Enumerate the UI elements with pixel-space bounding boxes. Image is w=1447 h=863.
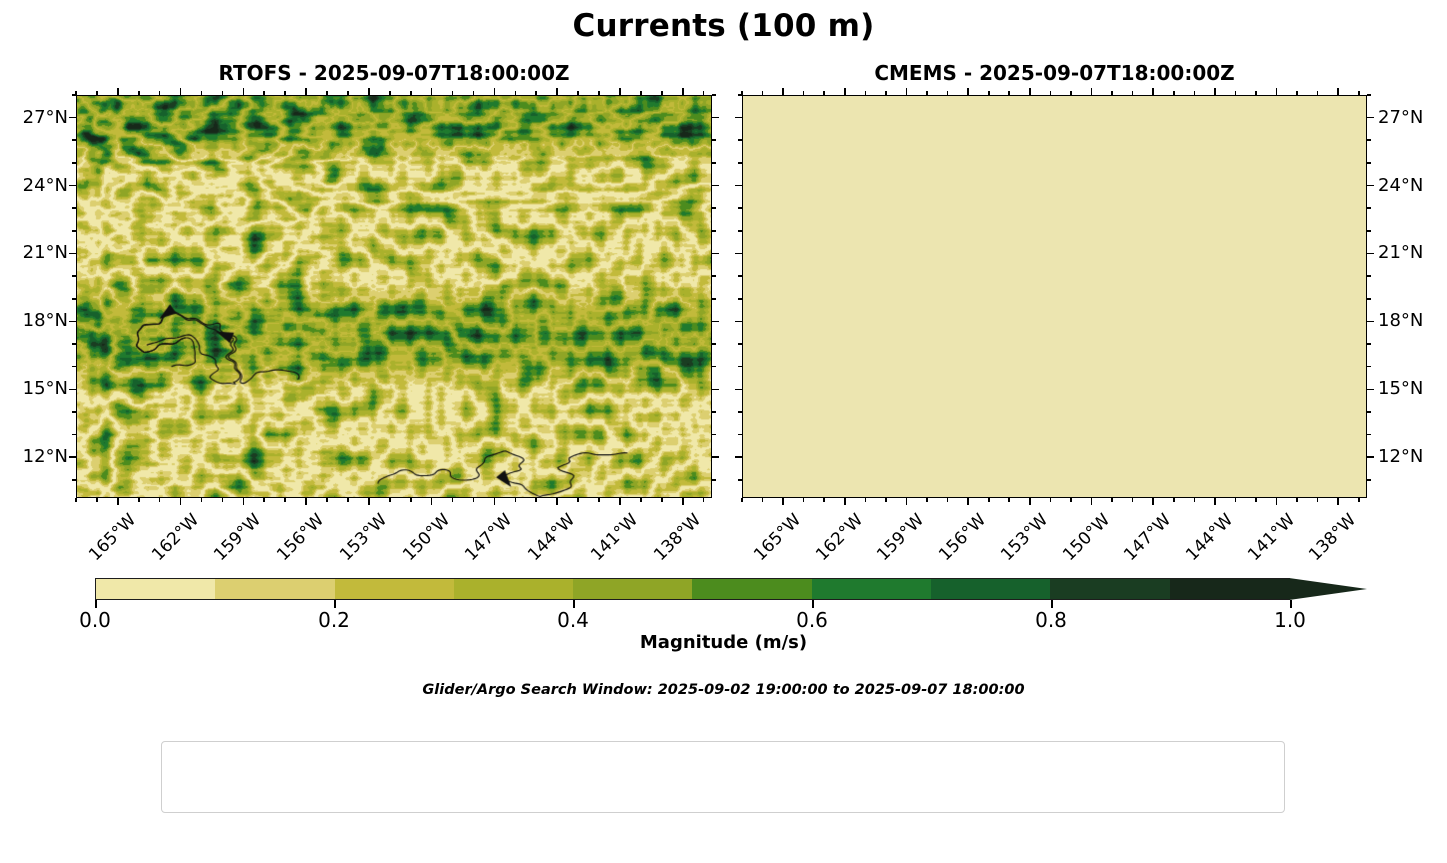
y-tick-major	[712, 117, 719, 119]
y-tick-minor	[738, 230, 742, 232]
x-tick-major	[305, 498, 307, 505]
colorbar-band-8	[1050, 579, 1169, 599]
x-tick-minor	[1132, 498, 1134, 502]
x-tick-minor	[535, 91, 537, 95]
colorbar-tick	[334, 600, 336, 608]
colorbar-tick	[1051, 600, 1053, 608]
panel-title-rtofs: RTOFS - 2025-09-07T18:00:00Z	[76, 61, 712, 85]
panel-title-cmems: CMEMS - 2025-09-07T18:00:00Z	[742, 61, 1367, 85]
x-tick-minor	[96, 498, 98, 502]
x-tick-minor	[1111, 498, 1113, 502]
colorbar-band-5	[692, 579, 811, 599]
current-magnitude-field-rtofs	[77, 96, 711, 497]
x-tick-minor	[201, 91, 203, 95]
x-tick-minor	[410, 91, 412, 95]
x-tick-minor	[138, 91, 140, 95]
y-axis-label: 18°N	[1378, 310, 1440, 331]
colorbar-band-3	[454, 579, 573, 599]
colorbar[interactable]	[95, 578, 1313, 600]
x-tick-minor	[1173, 91, 1175, 95]
y-tick-minor	[712, 139, 716, 141]
colorbar-ticklabel: 0.4	[533, 608, 613, 632]
y-tick-major	[735, 185, 742, 187]
y-tick-minor	[738, 343, 742, 345]
y-tick-minor	[1367, 207, 1371, 209]
x-tick-minor	[326, 498, 328, 502]
figure-title: Currents (100 m)	[0, 8, 1447, 44]
y-tick-minor	[712, 298, 716, 300]
x-tick-minor	[988, 498, 990, 502]
x-tick-minor	[741, 498, 743, 502]
y-axis-label: 24°N	[8, 175, 68, 196]
x-tick-minor	[803, 91, 805, 95]
x-tick-minor	[263, 498, 265, 502]
x-tick-minor	[326, 91, 328, 95]
x-tick-major	[1337, 498, 1339, 505]
y-tick-major	[735, 456, 742, 458]
x-tick-minor	[1173, 498, 1175, 502]
x-tick-major	[906, 88, 908, 95]
y-axis-label: 24°N	[1378, 175, 1440, 196]
y-tick-minor	[712, 230, 716, 232]
x-tick-minor	[741, 91, 743, 95]
y-tick-minor	[1367, 343, 1371, 345]
y-tick-minor	[72, 298, 76, 300]
x-tick-minor	[1050, 91, 1052, 95]
y-tick-minor	[72, 366, 76, 368]
y-axis-label: 21°N	[8, 242, 68, 263]
x-tick-minor	[577, 91, 579, 95]
y-tick-minor	[738, 162, 742, 164]
x-tick-minor	[138, 498, 140, 502]
y-tick-minor	[738, 434, 742, 436]
y-axis-label: 12°N	[8, 446, 68, 467]
y-axis-label: 12°N	[1378, 446, 1440, 467]
y-tick-major	[735, 117, 742, 119]
colorbar-band-0	[96, 579, 215, 599]
y-tick-minor	[1367, 366, 1371, 368]
x-tick-minor	[1358, 498, 1360, 502]
x-tick-minor	[452, 498, 454, 502]
x-tick-minor	[473, 498, 475, 502]
x-tick-minor	[926, 91, 928, 95]
x-tick-minor	[263, 91, 265, 95]
y-tick-minor	[712, 275, 716, 277]
x-tick-minor	[762, 91, 764, 95]
y-tick-minor	[738, 207, 742, 209]
y-tick-minor	[712, 207, 716, 209]
colorbar-tick	[812, 600, 814, 608]
y-tick-minor	[1367, 411, 1371, 413]
x-tick-major	[494, 498, 496, 505]
y-tick-major	[69, 185, 76, 187]
x-tick-major	[1214, 498, 1216, 505]
y-tick-minor	[738, 298, 742, 300]
x-tick-minor	[661, 91, 663, 95]
x-tick-major	[619, 88, 621, 95]
y-tick-major	[69, 389, 76, 391]
x-tick-minor	[1296, 91, 1298, 95]
x-tick-major	[1029, 498, 1031, 505]
y-tick-minor	[738, 139, 742, 141]
colorbar-ticklabel: 0.0	[55, 608, 135, 632]
y-tick-major	[735, 321, 742, 323]
x-tick-minor	[159, 498, 161, 502]
y-tick-major	[69, 321, 76, 323]
x-tick-major	[1152, 88, 1154, 95]
x-tick-major	[1091, 498, 1093, 505]
x-tick-major	[180, 88, 182, 95]
y-tick-minor	[1367, 162, 1371, 164]
x-tick-minor	[1235, 498, 1237, 502]
y-tick-major	[1367, 253, 1374, 255]
colorbar-gradient	[95, 578, 1290, 600]
x-tick-minor	[926, 498, 928, 502]
map-panel-cmems[interactable]	[742, 95, 1367, 498]
x-tick-minor	[410, 498, 412, 502]
current-magnitude-field-cmems	[743, 96, 1366, 497]
y-tick-minor	[1367, 230, 1371, 232]
x-tick-minor	[222, 498, 224, 502]
x-tick-major	[967, 88, 969, 95]
x-tick-minor	[1070, 498, 1072, 502]
x-tick-minor	[535, 498, 537, 502]
y-axis-label: 15°N	[8, 378, 68, 399]
y-tick-minor	[712, 94, 716, 96]
colorbar-tick	[573, 600, 575, 608]
y-tick-minor	[712, 479, 716, 481]
x-tick-minor	[389, 91, 391, 95]
x-tick-major	[782, 88, 784, 95]
y-tick-minor	[72, 434, 76, 436]
x-tick-minor	[1317, 91, 1319, 95]
y-tick-minor	[1367, 94, 1371, 96]
x-tick-minor	[1050, 498, 1052, 502]
y-tick-minor	[712, 366, 716, 368]
x-tick-minor	[1008, 91, 1010, 95]
x-tick-major	[782, 498, 784, 505]
colorbar-tick	[95, 600, 97, 608]
y-tick-minor	[738, 275, 742, 277]
y-tick-minor	[1367, 275, 1371, 277]
colorbar-band-1	[215, 579, 334, 599]
colorbar-band-6	[812, 579, 931, 599]
x-tick-major	[117, 88, 119, 95]
x-tick-minor	[1008, 498, 1010, 502]
x-tick-minor	[452, 91, 454, 95]
x-tick-minor	[885, 91, 887, 95]
x-tick-major	[844, 88, 846, 95]
x-tick-major	[682, 498, 684, 505]
x-tick-minor	[1111, 91, 1113, 95]
colorbar-band-7	[931, 579, 1050, 599]
x-tick-major	[556, 88, 558, 95]
x-tick-minor	[1296, 498, 1298, 502]
y-tick-major	[69, 456, 76, 458]
x-tick-major	[1029, 88, 1031, 95]
x-tick-minor	[284, 498, 286, 502]
x-tick-major	[368, 498, 370, 505]
x-tick-minor	[988, 91, 990, 95]
y-tick-major	[735, 253, 742, 255]
y-tick-minor	[712, 434, 716, 436]
y-axis-label: 18°N	[8, 310, 68, 331]
x-tick-minor	[865, 498, 867, 502]
x-tick-minor	[1317, 498, 1319, 502]
x-tick-major	[844, 498, 846, 505]
x-tick-minor	[598, 498, 600, 502]
x-tick-minor	[703, 498, 705, 502]
x-tick-minor	[947, 498, 949, 502]
y-tick-minor	[738, 366, 742, 368]
x-tick-minor	[823, 498, 825, 502]
x-tick-major	[431, 498, 433, 505]
x-tick-minor	[577, 498, 579, 502]
y-axis-label: 27°N	[8, 107, 68, 128]
x-tick-minor	[284, 91, 286, 95]
y-tick-minor	[72, 139, 76, 141]
y-tick-minor	[1367, 434, 1371, 436]
colorbar-tick	[1290, 600, 1292, 608]
colorbar-label: Magnitude (m/s)	[0, 632, 1447, 653]
y-tick-major	[712, 253, 719, 255]
x-tick-minor	[762, 498, 764, 502]
x-tick-minor	[222, 91, 224, 95]
x-tick-minor	[1235, 91, 1237, 95]
x-tick-major	[619, 498, 621, 505]
x-tick-minor	[885, 498, 887, 502]
x-tick-major	[180, 498, 182, 505]
x-tick-minor	[75, 498, 77, 502]
platform-legend[interactable]	[161, 741, 1285, 813]
x-tick-minor	[865, 91, 867, 95]
x-tick-minor	[473, 91, 475, 95]
x-tick-major	[906, 498, 908, 505]
colorbar-ticklabel: 0.2	[294, 608, 374, 632]
y-tick-minor	[712, 411, 716, 413]
colorbar-ticklabel: 1.0	[1250, 608, 1330, 632]
x-tick-minor	[389, 498, 391, 502]
y-tick-minor	[72, 207, 76, 209]
x-tick-minor	[96, 91, 98, 95]
y-tick-major	[1367, 185, 1374, 187]
x-tick-major	[431, 88, 433, 95]
x-tick-minor	[515, 91, 517, 95]
x-tick-major	[117, 498, 119, 505]
y-tick-minor	[712, 162, 716, 164]
x-tick-major	[305, 88, 307, 95]
y-axis-label: 27°N	[1378, 107, 1440, 128]
x-tick-major	[682, 88, 684, 95]
x-tick-major	[243, 88, 245, 95]
colorbar-band-4	[573, 579, 692, 599]
y-tick-minor	[72, 162, 76, 164]
y-tick-major	[1367, 456, 1374, 458]
y-tick-major	[1367, 321, 1374, 323]
x-tick-major	[1152, 498, 1154, 505]
colorbar-band-9	[1170, 579, 1289, 599]
x-tick-minor	[1194, 91, 1196, 95]
x-tick-minor	[1358, 91, 1360, 95]
colorbar-extend-arrow	[1289, 578, 1367, 600]
x-tick-minor	[703, 91, 705, 95]
y-tick-minor	[1367, 139, 1371, 141]
x-tick-minor	[947, 91, 949, 95]
y-tick-minor	[738, 411, 742, 413]
y-tick-major	[69, 117, 76, 119]
x-tick-minor	[803, 498, 805, 502]
y-tick-major	[712, 321, 719, 323]
y-tick-major	[735, 389, 742, 391]
y-tick-minor	[72, 343, 76, 345]
colorbar-ticklabel: 0.8	[1011, 608, 1091, 632]
x-tick-major	[1276, 88, 1278, 95]
x-tick-minor	[1132, 91, 1134, 95]
y-tick-major	[712, 456, 719, 458]
y-tick-minor	[72, 479, 76, 481]
colorbar-band-2	[335, 579, 454, 599]
x-tick-minor	[823, 91, 825, 95]
x-tick-minor	[661, 498, 663, 502]
search-window-note: Glider/Argo Search Window: 2025-09-02 19…	[0, 682, 1447, 698]
y-tick-minor	[72, 275, 76, 277]
x-tick-minor	[1255, 91, 1257, 95]
x-tick-minor	[347, 91, 349, 95]
x-tick-major	[1276, 498, 1278, 505]
y-tick-minor	[1367, 298, 1371, 300]
x-tick-minor	[515, 498, 517, 502]
x-tick-minor	[75, 91, 77, 95]
x-tick-major	[368, 88, 370, 95]
y-tick-major	[69, 253, 76, 255]
x-tick-minor	[159, 91, 161, 95]
y-tick-major	[712, 389, 719, 391]
x-tick-minor	[1255, 498, 1257, 502]
x-tick-major	[967, 498, 969, 505]
map-panel-rtofs[interactable]	[76, 95, 712, 498]
x-tick-major	[494, 88, 496, 95]
y-tick-minor	[72, 411, 76, 413]
y-axis-label: 21°N	[1378, 242, 1440, 263]
x-tick-minor	[1194, 498, 1196, 502]
x-tick-minor	[1070, 91, 1072, 95]
x-tick-minor	[640, 91, 642, 95]
y-tick-minor	[72, 230, 76, 232]
x-tick-minor	[201, 498, 203, 502]
y-tick-minor	[712, 343, 716, 345]
y-tick-minor	[1367, 479, 1371, 481]
x-tick-minor	[598, 91, 600, 95]
x-tick-minor	[640, 498, 642, 502]
x-tick-major	[1091, 88, 1093, 95]
y-tick-major	[1367, 117, 1374, 119]
x-tick-major	[556, 498, 558, 505]
x-tick-minor	[347, 498, 349, 502]
x-tick-major	[243, 498, 245, 505]
y-tick-major	[1367, 389, 1374, 391]
x-tick-major	[1214, 88, 1216, 95]
y-tick-major	[712, 185, 719, 187]
y-tick-minor	[738, 479, 742, 481]
x-tick-major	[1337, 88, 1339, 95]
colorbar-ticklabel: 0.6	[772, 608, 852, 632]
y-axis-label: 15°N	[1378, 378, 1440, 399]
